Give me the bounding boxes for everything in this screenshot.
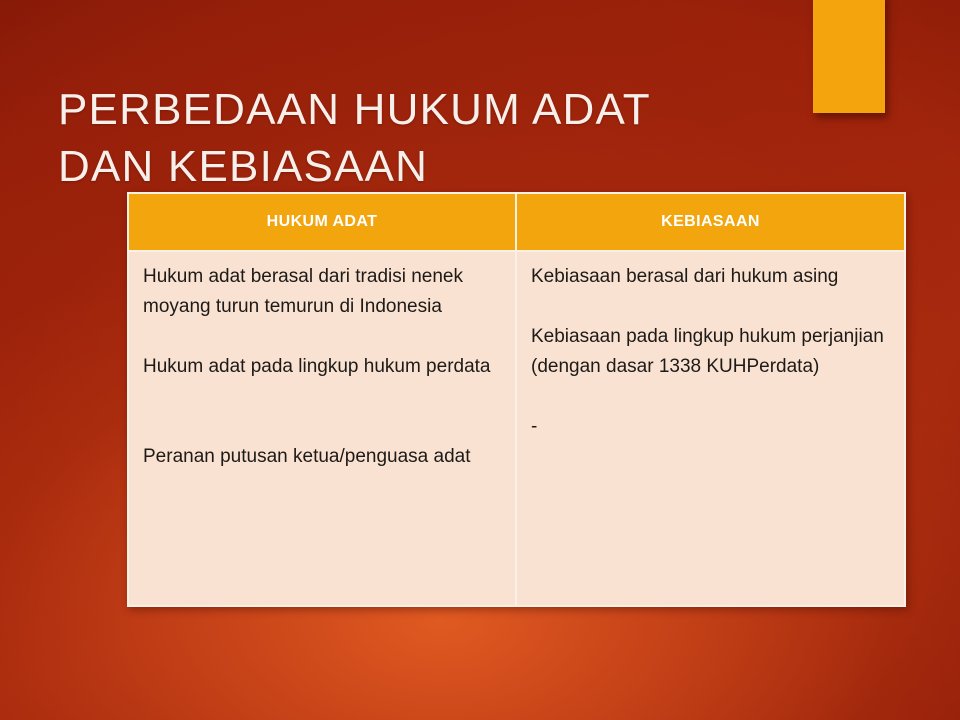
- cell-hukum-adat: Hukum adat berasal dari tradisi nenek mo…: [128, 251, 516, 606]
- table-header-row: HUKUM ADAT KEBIASAAN: [128, 193, 905, 251]
- cell-kebiasaan: Kebiasaan berasal dari hukum asing Kebia…: [516, 251, 905, 606]
- slide-canvas: PERBEDAAN HUKUM ADAT DAN KEBIASAAN HUKUM…: [0, 0, 960, 720]
- comparison-table: HUKUM ADAT KEBIASAAN Hukum adat berasal …: [127, 192, 906, 607]
- page-title: PERBEDAAN HUKUM ADAT DAN KEBIASAAN: [58, 81, 848, 195]
- column-header-hukum-adat: HUKUM ADAT: [128, 193, 516, 251]
- table-row: Hukum adat berasal dari tradisi nenek mo…: [128, 251, 905, 606]
- column-header-kebiasaan: KEBIASAAN: [516, 193, 905, 251]
